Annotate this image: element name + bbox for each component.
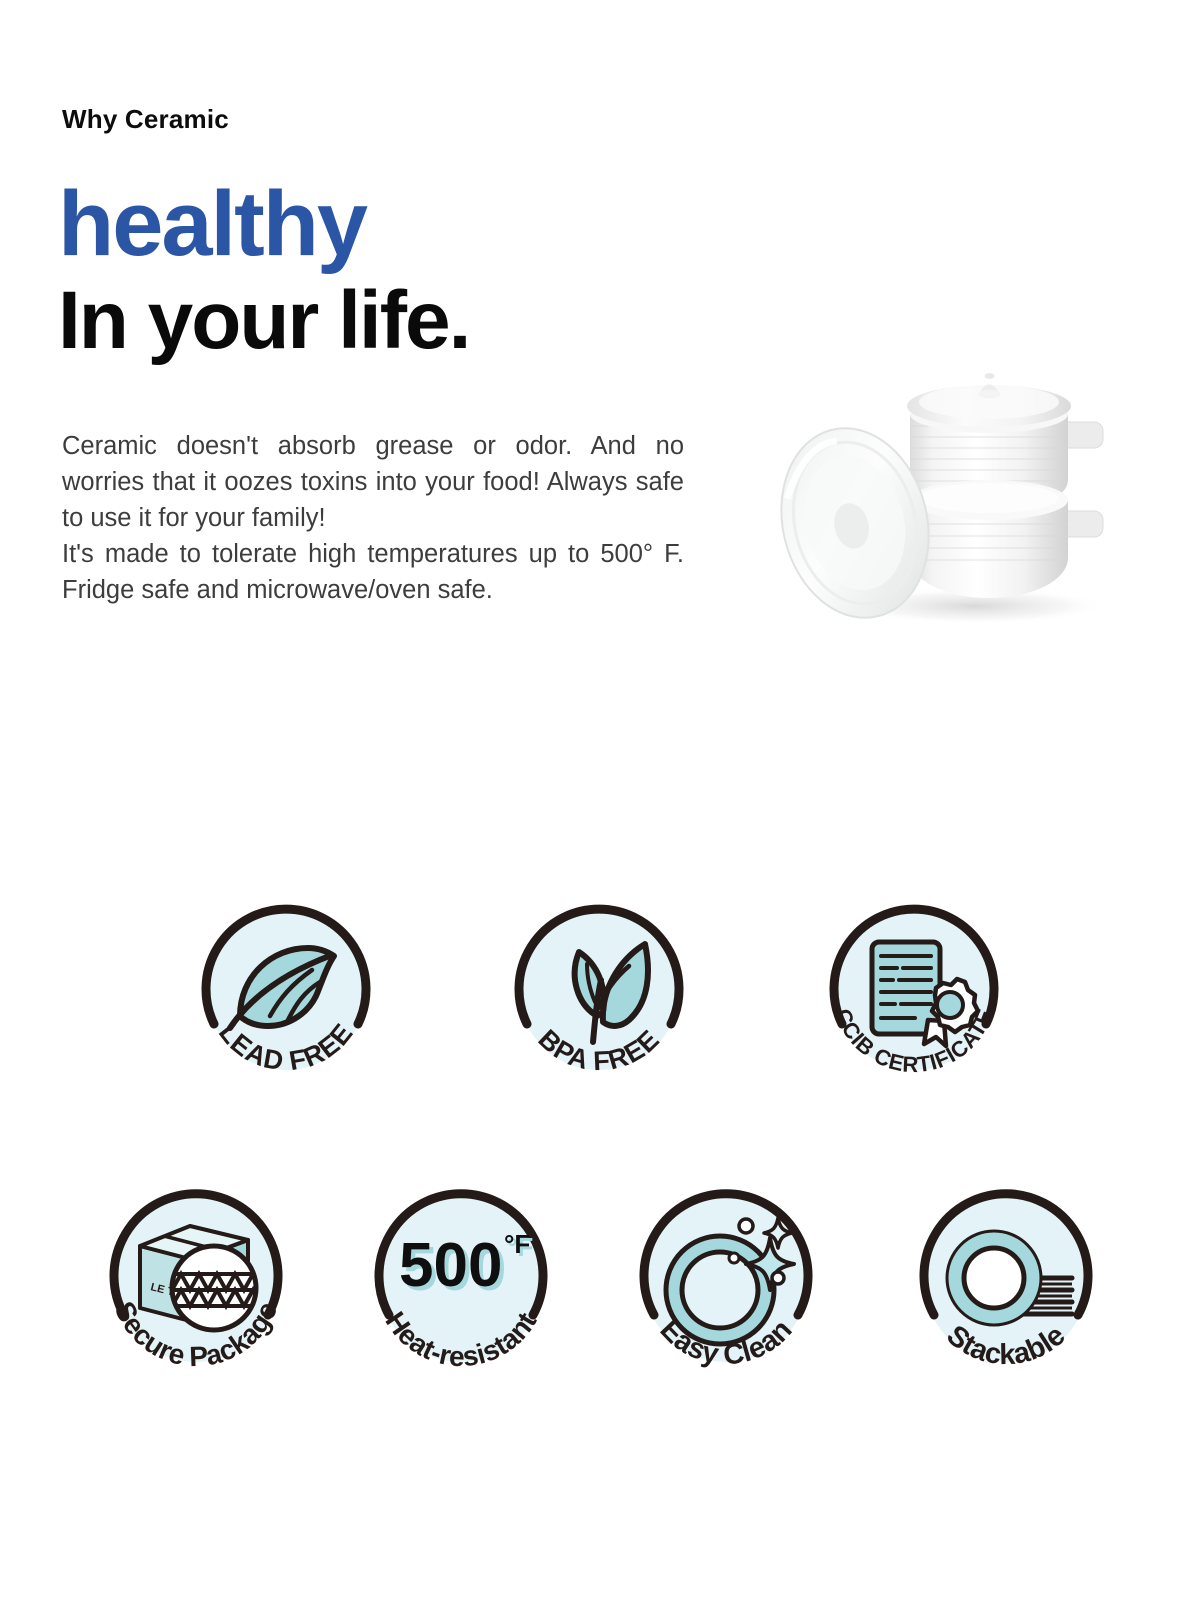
body-copy: Ceramic doesn't absorb grease or odor. A… <box>62 428 684 608</box>
badge-stackable[interactable]: Stackable <box>908 1182 1104 1378</box>
package-box-icon: LE TAUO <box>140 1226 262 1330</box>
body-paragraph-2: It's made to tolerate high temperatures … <box>62 536 684 608</box>
lower-bowl-handle <box>1064 511 1103 537</box>
badge-lead-free[interactable]: LEAD FREE <box>190 894 382 1086</box>
upper-bowl-handle <box>1064 422 1103 448</box>
badge-ccib-certificate[interactable]: CCIB CERTIFICATE <box>818 894 1010 1086</box>
product-image <box>760 348 1150 648</box>
page-eyebrow: Why Ceramic <box>62 104 229 135</box>
temperature-value: 500 <box>399 1231 502 1300</box>
badge-secure-package[interactable]: LE TAUO Secure Package <box>98 1182 294 1378</box>
page-title: In your life. <box>58 280 469 362</box>
temperature-unit: °F <box>504 1229 530 1259</box>
headline-accent: healthy <box>58 178 366 270</box>
badge-bpa-free[interactable]: BPA FREE <box>503 894 695 1086</box>
badge-heat-resistant[interactable]: 500 500 °F °F Heat-resistant <box>363 1182 559 1378</box>
body-paragraph-1: Ceramic doesn't absorb grease or odor. A… <box>62 428 684 536</box>
badge-easy-clean[interactable]: Easy Clean <box>628 1182 824 1378</box>
ceramic-bowls-illustration <box>760 348 1150 648</box>
